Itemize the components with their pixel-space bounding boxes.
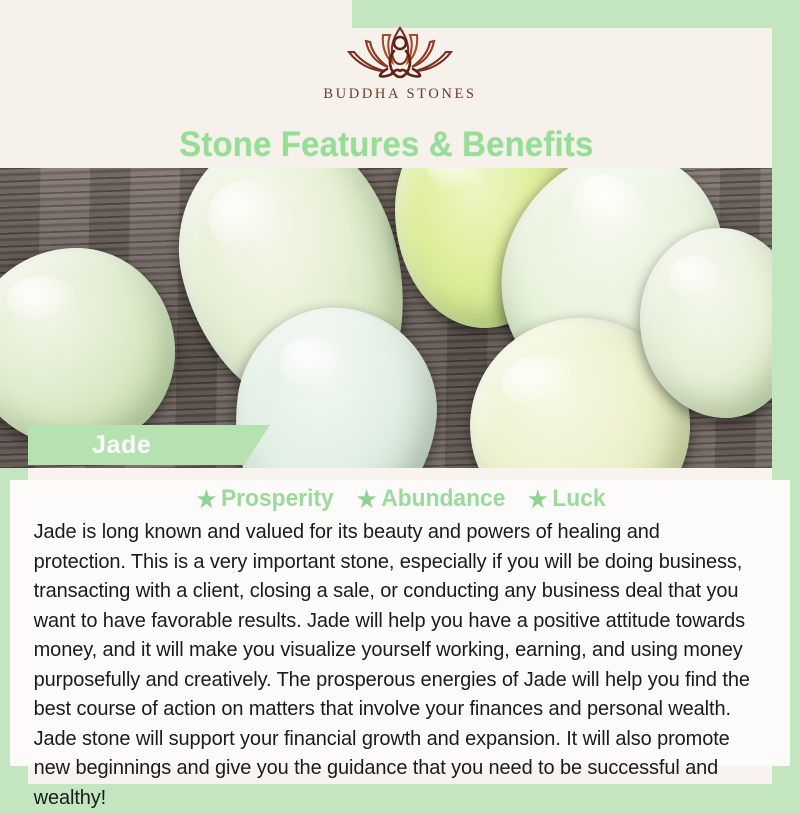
benefit-label: Prosperity [221,485,334,513]
stone-name-label: Jade [92,431,151,460]
benefits-row: ★ Prosperity ★ Abundance ★ Luck [10,482,790,516]
star-icon: ★ [357,488,377,511]
stone-name-badge: Jade [28,425,244,465]
poster-root: BUDDHA STONES Stone Features & Benefits … [0,0,800,800]
brand-name: BUDDHA STONES [323,86,476,103]
lotus-meditation-icon [335,22,465,84]
benefit-label: Abundance [381,485,505,513]
stone-photo [0,168,772,468]
title-band: Stone Features & Benefits [0,122,772,168]
star-icon: ★ [196,488,216,511]
page-title: Stone Features & Benefits [179,125,593,165]
star-icon: ★ [528,488,548,511]
benefit-item-prosperity: ★ Prosperity [196,485,333,513]
benefit-item-luck: ★ Luck [528,485,606,513]
brand-logo: BUDDHA STONES [0,22,800,103]
benefit-label: Luck [552,485,605,513]
description-text: Jade is long known and valued for its be… [10,516,778,813]
content-inner: ★ Prosperity ★ Abundance ★ Luck Jade is … [10,480,790,766]
content-panel: ★ Prosperity ★ Abundance ★ Luck Jade is … [28,468,772,784]
benefit-item-abundance: ★ Abundance [357,485,505,513]
